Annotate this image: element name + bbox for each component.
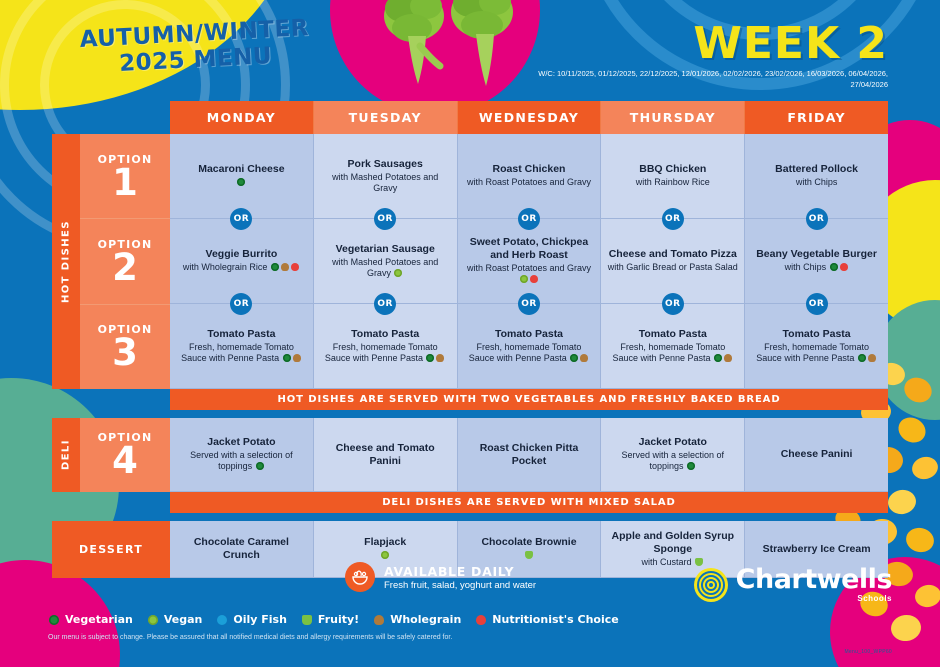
vegan-icon [381, 551, 389, 559]
dish-description: Served with a selection of toppings [176, 450, 307, 473]
legend-label: Vegan [164, 613, 203, 626]
option-number: 1 [112, 166, 138, 200]
side-label-deli: DELI [52, 418, 80, 492]
hot-dishes-cells: Macaroni CheesePork Sausageswith Mashed … [170, 134, 888, 389]
dish-name: Roast Chicken Pitta Pocket [464, 442, 595, 468]
day-header-tuesday: TUESDAY [314, 101, 458, 134]
vegan-icon [394, 269, 402, 277]
menu-cell: Macaroni Cheese [170, 134, 314, 219]
dish-name: Veggie Burrito [206, 248, 278, 261]
side-label-dessert: DESSERT [52, 521, 170, 578]
grain-icon [868, 354, 876, 362]
day-header-friday: FRIDAY [745, 101, 888, 134]
menu-cell: ORTomato PastaFresh, homemade Tomato Sau… [314, 304, 458, 389]
dietary-legend: VegetarianVeganOily FishFruity!Wholegrai… [48, 613, 619, 626]
option-number: 2 [112, 251, 138, 285]
menu-cell: Roast Chicken Pitta Pocket [458, 418, 602, 492]
legend-item-grain: Wholegrain [373, 613, 461, 626]
legend-label: Oily Fish [233, 613, 287, 626]
veg-icon [256, 462, 264, 470]
menu-cell: Cheese and Tomato Panini [314, 418, 458, 492]
dish-description: Fresh, homemade Tomato Sauce with Penne … [464, 342, 595, 365]
legend-item-vegan: Vegan [147, 613, 203, 626]
grain-icon [436, 354, 444, 362]
dish-description: with Roast Potatoes and Gravy [467, 177, 591, 188]
disclaimer-text: Our menu is subject to change. Please be… [48, 634, 452, 641]
legend-item-fruity: Fruity! [301, 613, 359, 626]
veg-icon [830, 263, 838, 271]
dietary-icons [282, 353, 302, 363]
dish-name: Tomato Pasta [639, 328, 707, 341]
grain-icon [580, 354, 588, 362]
legend-label: Nutritionist's Choice [492, 613, 618, 626]
menu-cell: ORTomato PastaFresh, homemade Tomato Sau… [601, 304, 745, 389]
menu-poster: AUTUMN/WINTER 2025 MENU WEEK 2 W/C: 10/1… [0, 0, 940, 667]
option-label-4: OPTION 4 [80, 418, 170, 492]
grain-icon [281, 263, 289, 271]
hot-banner-row: HOT DISHES ARE SERVED WITH TWO VEGETABLE… [52, 389, 888, 410]
dietary-icons [519, 274, 539, 284]
table-header-row: MONDAY TUESDAY WEDNESDAY THURSDAY FRIDAY [52, 101, 888, 134]
hot-dishes-block: HOT DISHES OPTION 1 OPTION 2 OPTION 3 Ma… [52, 134, 888, 389]
grain-icon [293, 354, 301, 362]
dietary-icons [425, 353, 445, 363]
dish-description: Served with a selection of toppings [607, 450, 738, 473]
veg-icon [271, 263, 279, 271]
dish-description: Fresh, homemade Tomato Sauce with Penne … [751, 342, 882, 365]
menu-cell: ORCheese and Tomato Pizzawith Garlic Bre… [601, 219, 745, 304]
menu-cell: Jacket PotatoServed with a selection of … [170, 418, 314, 492]
legend-item-veg: Vegetarian [48, 613, 133, 626]
menu-cell: ORVegetarian Sausagewith Mashed Potatoes… [314, 219, 458, 304]
dish-description: with Rainbow Rice [636, 177, 710, 188]
option-labels-hot: OPTION 1 OPTION 2 OPTION 3 [80, 134, 170, 389]
dish-name: Sweet Potato, Chickpea and Herb Roast [464, 236, 595, 262]
heart-icon [291, 263, 299, 271]
legend-label: Wholegrain [390, 613, 461, 626]
or-badge: OR [230, 293, 252, 315]
option2-row: ORVeggie Burritowith Wholegrain Rice ORV… [170, 219, 888, 304]
fish-icon [217, 615, 227, 625]
option-label-1: OPTION 1 [80, 134, 170, 219]
dish-name: Vegetarian Sausage [336, 243, 435, 256]
dish-description: Fresh, homemade Tomato Sauce with Penne … [176, 342, 307, 365]
vegan-icon [520, 275, 528, 283]
menu-table: MONDAY TUESDAY WEDNESDAY THURSDAY FRIDAY… [52, 101, 888, 578]
available-daily-block: AVAILABLE DAILY Fresh fruit, salad, yogh… [345, 562, 536, 592]
dish-name: Jacket Potato [207, 436, 275, 449]
menu-cell: ORTomato PastaFresh, homemade Tomato Sau… [745, 304, 888, 389]
dish-name: Strawberry Ice Cream [763, 543, 871, 556]
dish-name: Macaroni Cheese [198, 163, 284, 176]
dish-name: Battered Pollock [775, 163, 858, 176]
menu-cell: ORBeany Vegetable Burgerwith Chips [745, 219, 888, 304]
dish-description: with Mashed Potatoes and Gravy [320, 257, 451, 280]
menu-cell: Jacket PotatoServed with a selection of … [601, 418, 745, 492]
dish-name: Roast Chicken [493, 163, 566, 176]
dish-name: Tomato Pasta [495, 328, 563, 341]
dish-description: with Chips [796, 177, 838, 188]
or-badge: OR [518, 208, 540, 230]
dish-description: with Garlic Bread or Pasta Salad [608, 262, 738, 273]
veg-icon [49, 615, 59, 625]
dish-name: BBQ Chicken [639, 163, 706, 176]
veg-icon [570, 354, 578, 362]
or-badge: OR [662, 293, 684, 315]
dish-description [236, 177, 246, 188]
option1-row: Macaroni CheesePork Sausageswith Mashed … [170, 134, 888, 219]
dish-description [524, 550, 534, 561]
chartwells-spiral-icon [694, 568, 728, 602]
dish-name: Jacket Potato [639, 436, 707, 449]
dish-name: Tomato Pasta [207, 328, 275, 341]
dish-description: Fresh, homemade Tomato Sauce with Penne … [607, 342, 738, 365]
dietary-icons [236, 177, 246, 187]
menu-cell: Pork Sausageswith Mashed Potatoes and Gr… [314, 134, 458, 219]
menu-cell: ORTomato PastaFresh, homemade Tomato Sau… [170, 304, 314, 389]
dish-description [380, 550, 390, 561]
salad-bowl-icon [345, 562, 375, 592]
option-number: 4 [112, 444, 138, 478]
menu-cell: Roast Chickenwith Roast Potatoes and Gra… [458, 134, 602, 219]
option3-row: ORTomato PastaFresh, homemade Tomato Sau… [170, 304, 888, 389]
or-badge: OR [374, 208, 396, 230]
dish-description: with Chips [785, 262, 849, 273]
or-badge: OR [806, 293, 828, 315]
dietary-icons [270, 262, 300, 272]
week-commencing-dates: W/C: 10/11/2025, 01/12/2025, 22/12/2025,… [518, 68, 888, 91]
vegan-icon [148, 615, 158, 625]
week-label: WEEK 2 [693, 18, 888, 69]
dish-name: Beany Vegetable Burger [756, 248, 877, 261]
available-daily-subtitle: Fresh fruit, salad, yoghurt and water [384, 580, 536, 591]
legend-label: Fruity! [318, 613, 359, 626]
dietary-icons [380, 550, 390, 560]
banner-spacer [52, 492, 170, 513]
header-spacer [52, 101, 170, 134]
menu-cell: BBQ Chickenwith Rainbow Rice [601, 134, 745, 219]
available-daily-title: AVAILABLE DAILY [384, 564, 536, 579]
veg-icon [426, 354, 434, 362]
grain-icon [374, 615, 384, 625]
menu-cell: Chocolate Caramel Crunch [170, 521, 314, 578]
legend-item-fish: Oily Fish [216, 613, 287, 626]
veg-icon [283, 354, 291, 362]
side-label-hot-dishes: HOT DISHES [52, 134, 80, 389]
reference-code: Menu_100_WPP60 [844, 649, 892, 655]
menu-cell: Cheese Panini [745, 418, 888, 492]
veg-icon [858, 354, 866, 362]
dish-name: Flapjack [364, 536, 406, 549]
dish-name: Cheese Panini [781, 448, 853, 461]
dietary-icons [393, 268, 403, 278]
fruity-icon [302, 615, 312, 625]
option-label-3: OPTION 3 [80, 305, 170, 389]
menu-cell: ORSweet Potato, Chickpea and Herb Roastw… [458, 219, 602, 304]
or-badge: OR [518, 293, 540, 315]
dish-name: Pork Sausages [348, 158, 423, 171]
dish-name: Cheese and Tomato Pizza [609, 248, 737, 261]
dietary-icons [686, 461, 696, 471]
dish-name: Chocolate Caramel Crunch [176, 536, 307, 562]
fruity-icon [695, 558, 703, 566]
or-badge: OR [374, 293, 396, 315]
day-header-wednesday: WEDNESDAY [458, 101, 602, 134]
dietary-icons [713, 353, 733, 363]
dietary-icons [524, 550, 534, 560]
legend-label: Vegetarian [65, 613, 133, 626]
menu-cell: ORVeggie Burritowith Wholegrain Rice [170, 219, 314, 304]
deli-banner-row: DELI DISHES ARE SERVED WITH MIXED SALAD [52, 492, 888, 513]
dish-description: Fresh, homemade Tomato Sauce with Penne … [320, 342, 451, 365]
dish-description: with Roast Potatoes and Gravy [464, 263, 595, 286]
dietary-icons [569, 353, 589, 363]
dietary-icons [857, 353, 877, 363]
deli-block: DELI OPTION 4 Jacket PotatoServed with a… [52, 418, 888, 492]
veg-icon [714, 354, 722, 362]
option-number: 3 [112, 336, 138, 370]
brand-name: Chartwells [736, 566, 892, 593]
option-label-2: OPTION 2 [80, 219, 170, 304]
dietary-icons [829, 262, 849, 272]
dish-name: Tomato Pasta [351, 328, 419, 341]
dish-name: Chocolate Brownie [481, 536, 576, 549]
heart-icon [530, 275, 538, 283]
menu-cell: Battered Pollockwith Chips [745, 134, 888, 219]
or-badge: OR [662, 208, 684, 230]
brand-sub: Schools [736, 594, 892, 603]
or-badge: OR [806, 208, 828, 230]
heart-icon [840, 263, 848, 271]
dish-name: Cheese and Tomato Panini [320, 442, 451, 468]
menu-cell: ORTomato PastaFresh, homemade Tomato Sau… [458, 304, 602, 389]
dish-name: Tomato Pasta [783, 328, 851, 341]
heart-icon [476, 615, 486, 625]
hot-dishes-banner: HOT DISHES ARE SERVED WITH TWO VEGETABLE… [170, 389, 888, 410]
dietary-icons [255, 461, 265, 471]
day-header-thursday: THURSDAY [601, 101, 745, 134]
veg-icon [687, 462, 695, 470]
dish-description: with Mashed Potatoes and Gravy [320, 172, 451, 195]
veg-icon [237, 178, 245, 186]
deli-dishes-banner: DELI DISHES ARE SERVED WITH MIXED SALAD [170, 492, 888, 513]
or-badge: OR [230, 208, 252, 230]
banner-spacer [52, 389, 170, 410]
dish-name: Apple and Golden Syrup Sponge [607, 530, 738, 556]
broccoli-image [362, 0, 542, 101]
dish-description: with Wholegrain Rice [183, 262, 300, 273]
option4-row: Jacket PotatoServed with a selection of … [170, 418, 888, 492]
day-header-monday: MONDAY [170, 101, 314, 134]
chartwells-logo: Chartwells Schools [694, 566, 892, 603]
grain-icon [724, 354, 732, 362]
legend-item-heart: Nutritionist's Choice [475, 613, 618, 626]
fruity-icon [525, 551, 533, 559]
